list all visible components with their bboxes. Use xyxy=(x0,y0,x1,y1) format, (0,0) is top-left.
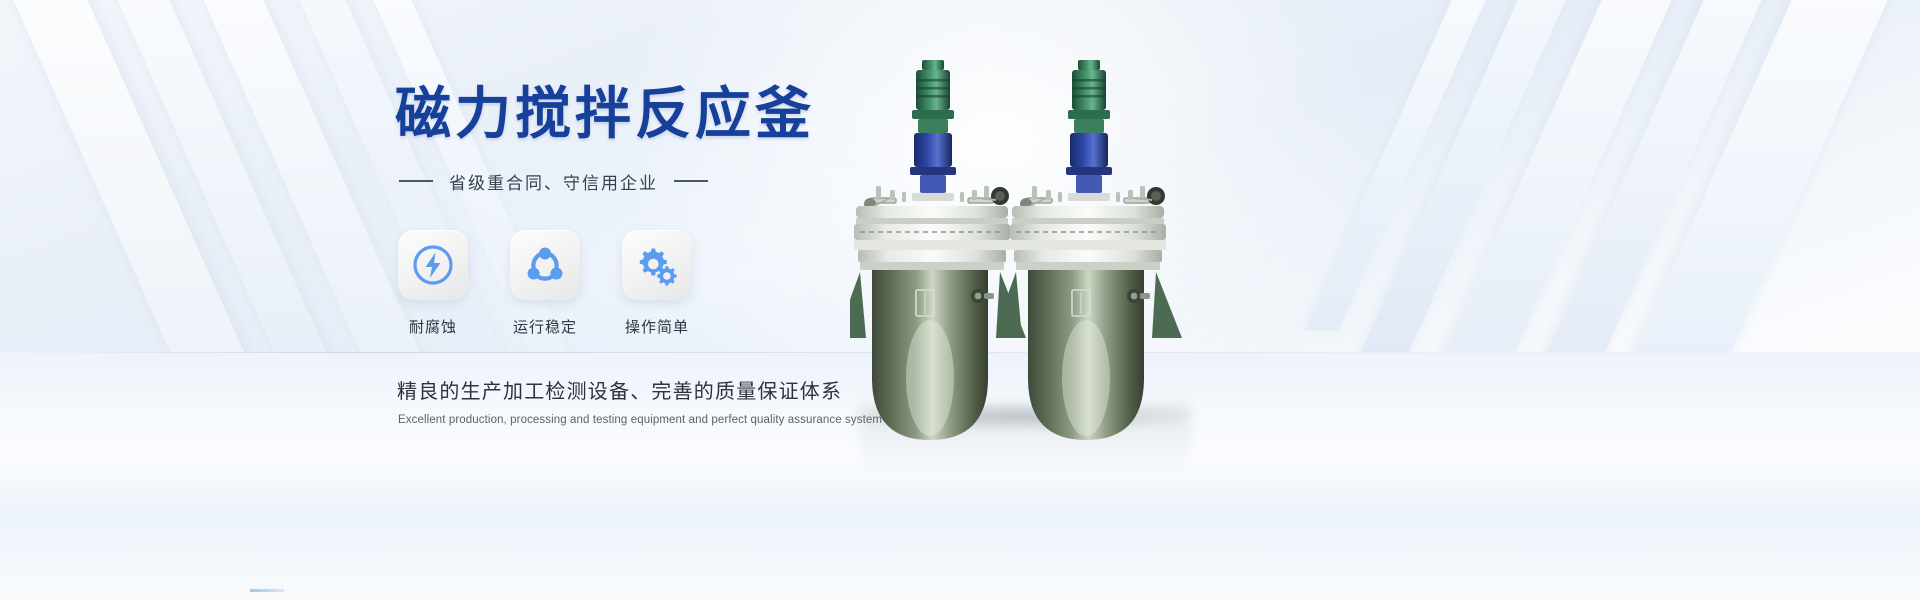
feature-item-corrosion-resistant[interactable]: 耐腐蚀 xyxy=(398,230,468,337)
feature-item-stable-operation[interactable]: 运行稳定 xyxy=(510,230,580,337)
banner-subtitle: 省级重合同、守信用企业 xyxy=(449,169,658,194)
feature-label: 操作简单 xyxy=(622,316,692,337)
feature-label: 运行稳定 xyxy=(510,316,580,337)
bottom-accent-line xyxy=(250,589,284,592)
promo-banner: 磁力搅拌反应釜 省级重合同、守信用企业 耐腐蚀 xyxy=(0,0,1920,600)
dash-right-decoration xyxy=(674,180,708,182)
banner-tagline-cn: 精良的生产加工检测设备、完善的质量保证体系 xyxy=(397,375,1033,404)
reactor-vessel-right xyxy=(1006,48,1206,468)
feature-list: 耐腐蚀 运行稳定 xyxy=(398,230,1033,337)
feature-icon-box xyxy=(510,230,580,300)
gears-icon xyxy=(634,242,680,288)
banner-content: 磁力搅拌反应釜 省级重合同、守信用企业 耐腐蚀 xyxy=(393,86,1033,426)
feature-icon-box xyxy=(398,230,468,300)
feature-icon-box xyxy=(622,230,692,300)
banner-title: 磁力搅拌反应釜 xyxy=(395,86,1033,145)
banner-tagline-en: Excellent production, processing and tes… xyxy=(398,414,1033,426)
network-nodes-icon xyxy=(522,242,568,288)
feature-item-simple-operation[interactable]: 操作简单 xyxy=(622,230,692,337)
banner-subtitle-row: 省级重合同、守信用企业 xyxy=(399,169,1033,194)
feature-label: 耐腐蚀 xyxy=(398,316,468,337)
lightning-bolt-icon xyxy=(410,242,456,288)
bg-floor-sheen xyxy=(0,455,1920,600)
dash-left-decoration xyxy=(399,180,433,182)
